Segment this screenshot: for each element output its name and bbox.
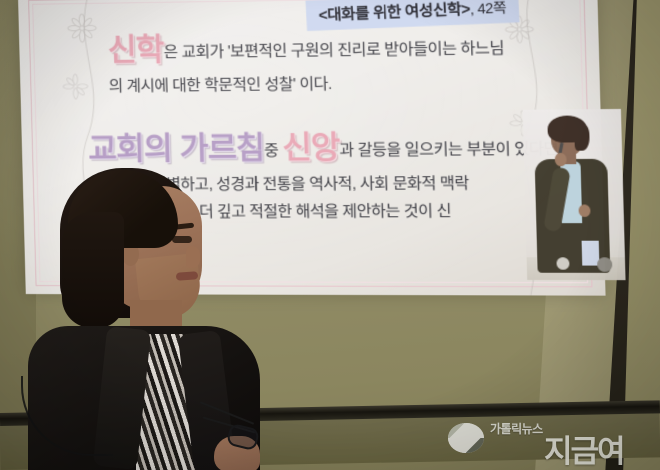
speaker-eye: [172, 236, 192, 243]
embedded-photo-object-cup: [556, 257, 569, 269]
photo-scene: <대화를 위한 여성신학>, 42쪽 신학은 교회가 '보편적인 구원의 진리로…: [0, 0, 660, 470]
keyword-church-teaching-suffix: 중: [264, 142, 279, 159]
catholic-news-logo-icon: [448, 423, 484, 453]
embedded-photo-hair-side: [574, 124, 590, 151]
foreground-speaker: [18, 168, 268, 470]
watermark-outlet-small: 가톨릭뉴스: [490, 420, 543, 437]
embedded-photo-object-mic-stand: [597, 257, 612, 272]
speaker-hair-side: [62, 212, 124, 328]
speaker-nose: [186, 246, 200, 268]
watermark-outlet-name: 지금여기: [544, 426, 648, 470]
keyword-church-teaching: 교회의 가르침: [88, 130, 265, 166]
eyeglasses-lens: [226, 423, 260, 452]
keyword-sinhak: 신학: [107, 32, 164, 68]
speaker-lips: [176, 271, 199, 281]
slide-embedded-photo: [523, 109, 626, 280]
slide-paragraph-1: 신학은 교회가 '보편적인 구원의 진리로 받아들이는 하느님 의 계시에 대한…: [107, 18, 587, 100]
watermark: 가톨릭뉴스 지금여기: [448, 414, 648, 466]
eyeglasses-held: [198, 406, 260, 452]
paragraph-1-line-2: 의 계시에 대한 학문적인 성찰' 이다.: [108, 69, 587, 100]
keyword-sinang: 신앙: [282, 130, 340, 166]
citation-page: , 42쪽: [470, 0, 507, 17]
embedded-photo-hand-upper: [555, 153, 567, 167]
embedded-photo-hand-lower: [578, 204, 590, 216]
paragraph-1-line-1: 은 교회가 '보편적인 구원의 진리로 받아들이는 하느님: [163, 40, 504, 61]
